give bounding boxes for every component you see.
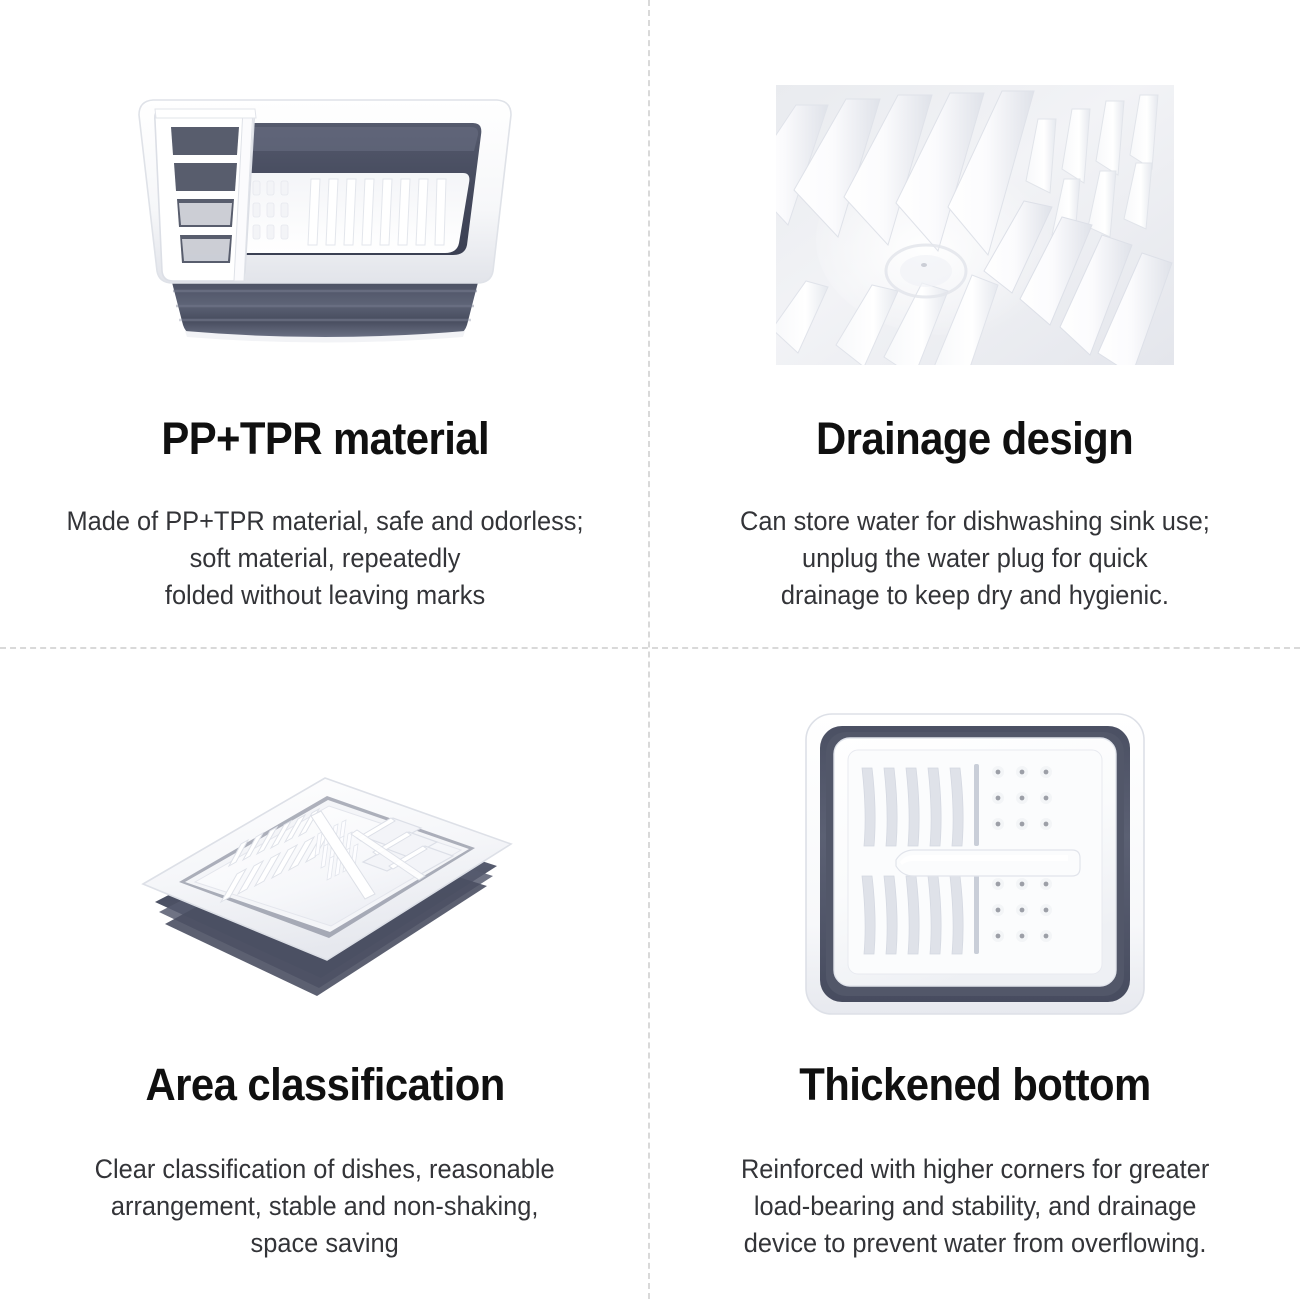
figure-area-classification — [0, 696, 650, 1036]
feature-card-drainage-design: Drainage design Can store water for dish… — [650, 0, 1300, 648]
feature-description: Made of PP+TPR material, safe and odorle… — [66, 503, 583, 614]
feature-description: Reinforced with higher corners for great… — [741, 1151, 1209, 1262]
collapsible-dish-rack-perspective-icon — [115, 75, 535, 375]
figure-thickened-bottom — [650, 696, 1300, 1036]
drainage-ribs-closeup-icon — [776, 85, 1174, 365]
feature-title: Drainage design — [816, 416, 1133, 461]
feature-title: Area classification — [145, 1062, 504, 1107]
feature-card-thickened-bottom: Thickened bottom Reinforced with higher … — [650, 648, 1300, 1299]
feature-card-area-classification: Area classification Clear classification… — [0, 648, 650, 1299]
collapsed-dish-rack-angled-icon — [125, 716, 525, 1016]
figure-pp-tpr-material — [0, 60, 650, 390]
feature-card-pp-tpr-material: PP+TPR material Made of PP+TPR material,… — [0, 0, 650, 648]
feature-description: Can store water for dishwashing sink use… — [740, 503, 1210, 614]
feature-title: PP+TPR material — [161, 416, 489, 461]
rack-bottom-top-view-icon — [800, 706, 1150, 1026]
feature-title: Thickened bottom — [799, 1062, 1150, 1107]
feature-grid-page: PP+TPR material Made of PP+TPR material,… — [0, 0, 1300, 1299]
figure-drainage-design — [650, 60, 1300, 390]
feature-description: Clear classification of dishes, reasonab… — [95, 1151, 555, 1262]
feature-grid: PP+TPR material Made of PP+TPR material,… — [0, 0, 1300, 1299]
